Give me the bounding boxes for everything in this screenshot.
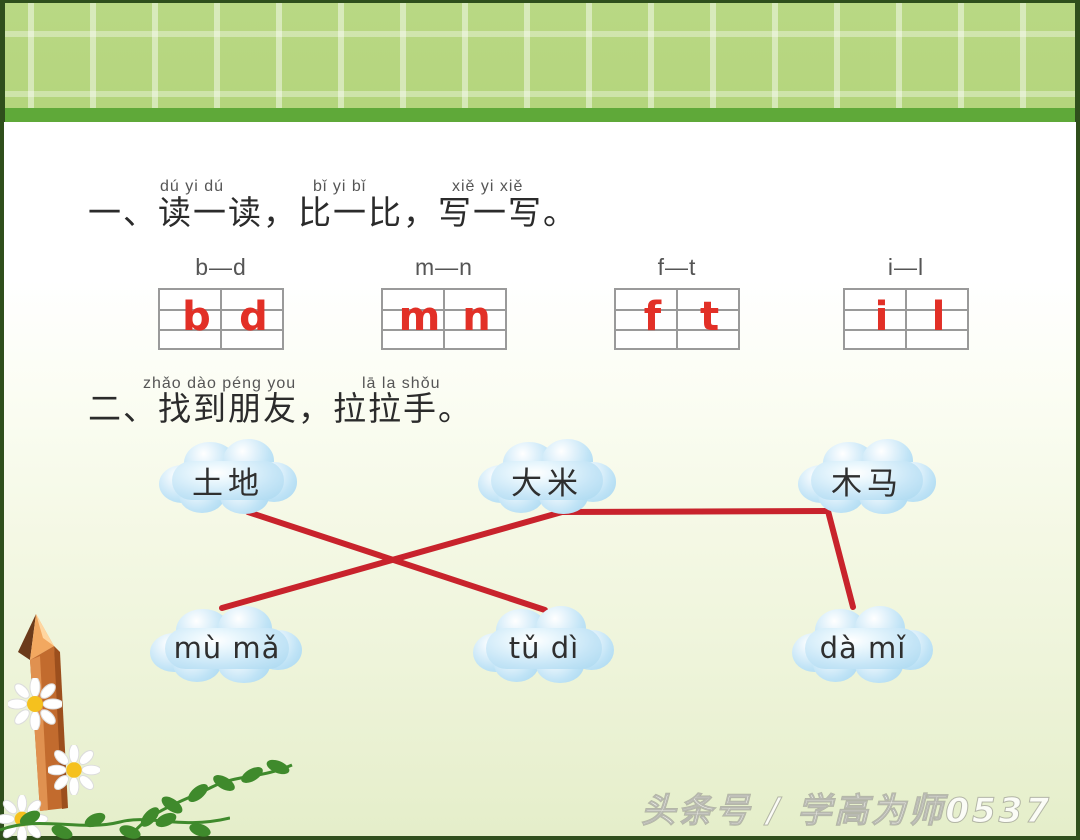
pinyin-grid-2[interactable]: f—t f t [614,288,740,350]
pinyin-grid-2-label: f—t [658,254,697,281]
exercise-2-pinyin-0: zhǎo dào péng you [143,375,296,393]
exercise-1-char-9: 一 [473,193,508,232]
cloud-label: dà mǐ [820,631,907,665]
pinyin-grid-3-label: i—l [888,254,924,281]
cloud-pinyin-dami[interactable]: dà mǐ [797,613,929,683]
exercise-1-char-8: 写 [438,193,473,232]
pinyin-grid-0-label: b—d [195,254,247,281]
four-line-three-grid[interactable]: m n [381,288,507,350]
grid-letter-right: l [932,297,946,337]
header-right-border [1075,0,1080,122]
grid-letter-right: d [239,297,268,337]
pinyin-grid-3[interactable]: i—l i l [843,288,969,350]
exercise-1-char-10: 写 [508,193,543,232]
exercise-1-char-2: 读 [228,193,263,232]
exercise-2-pinyin-1: lā la shǒu [362,375,441,393]
daisy-flower-icon [8,678,62,730]
exercise-1-pinyin-1: bǐ yi bǐ [313,178,366,196]
sheet-right-border [1076,122,1080,840]
exercise-2-char-3: 友 [263,389,298,428]
grid-cell-left: i [851,290,912,348]
exercise-1-char-5: 一 [333,193,368,232]
exercise-1-char-1: 一 [193,193,228,232]
exercise-2-char-5: 拉 [333,389,368,428]
cloud-pinyin-muma[interactable]: mù mǎ [156,613,298,683]
pinyin-grid-1-label: m—n [415,254,473,281]
exercise-1-char-4: 比 [298,193,333,232]
exercise-2-char-2: 朋 [228,389,263,428]
cloud-label: 大米 [511,458,583,503]
four-line-three-grid[interactable]: b d [158,288,284,350]
cloud-label: tǔ dì [509,631,579,665]
exercise-1-char-11: 。 [543,193,578,232]
worksheet-page: 一、读一读，比一比，写一写。 dú yi dú bǐ yi bǐ xiě yi … [0,0,1080,840]
exercise-1-char-7: ， [403,193,438,232]
exercise-2-number: 二、 [88,389,158,428]
sheet-left-border [0,122,4,840]
grid-cell-right: t [677,290,738,348]
exercise-2-heading: 二、找到朋友，拉拉手。 [88,392,473,425]
grid-cell-left: b [166,290,227,348]
cloud-label: mù mǎ [174,631,281,665]
cloud-word-muma[interactable]: 木马 [803,446,931,514]
header-left-border [0,0,5,122]
watermark-text: 头条号 / 学高为师0537 [641,783,1052,832]
exercise-2-char-0: 找 [158,389,193,428]
exercise-2-char-8: 。 [438,389,473,428]
exercise-1-char-6: 比 [368,193,403,232]
four-line-three-grid[interactable]: i l [843,288,969,350]
exercise-2-char-1: 到 [193,389,228,428]
grid-cell-right: d [221,290,282,348]
grid-letter-right: t [700,297,719,337]
grid-letter-right: n [462,297,490,337]
exercise-1-char-3: ， [263,193,298,232]
exercise-1-pinyin-2: xiě yi xiě [452,178,523,196]
grid-cell-left: f [622,290,683,348]
exercise-1-number: 一、 [88,193,158,232]
grid-letter-left: m [399,297,441,337]
exercise-2-char-7: 手 [403,389,438,428]
cloud-word-tudi[interactable]: 土地 [164,446,292,514]
pinyin-grid-1[interactable]: m—n m n [381,288,507,350]
grid-cell-right: n [444,290,505,348]
exercise-1-pinyin-0: dú yi dú [160,178,224,196]
pinyin-grid-0[interactable]: b—d b d [158,288,284,350]
exercise-1-heading: 一、读一读，比一比，写一写。 [88,196,578,229]
exercise-2-char-6: 拉 [368,389,403,428]
four-line-three-grid[interactable]: f t [614,288,740,350]
cloud-pinyin-tudi[interactable]: tǔ dì [478,613,610,683]
exercise-2-char-4: ， [298,389,333,428]
cloud-word-dami[interactable]: 大米 [483,446,611,514]
grid-cell-left: m [389,290,450,348]
page-header-plaid [0,0,1080,125]
grid-cell-right: l [906,290,967,348]
green-vine-leaves-icon [120,755,300,840]
exercise-1-char-0: 读 [158,193,193,232]
grid-letter-left: b [182,297,211,337]
grid-letter-left: f [644,297,661,337]
cloud-label: 土地 [192,458,264,503]
grid-letter-left: i [875,297,889,337]
cloud-label: 木马 [831,458,903,503]
